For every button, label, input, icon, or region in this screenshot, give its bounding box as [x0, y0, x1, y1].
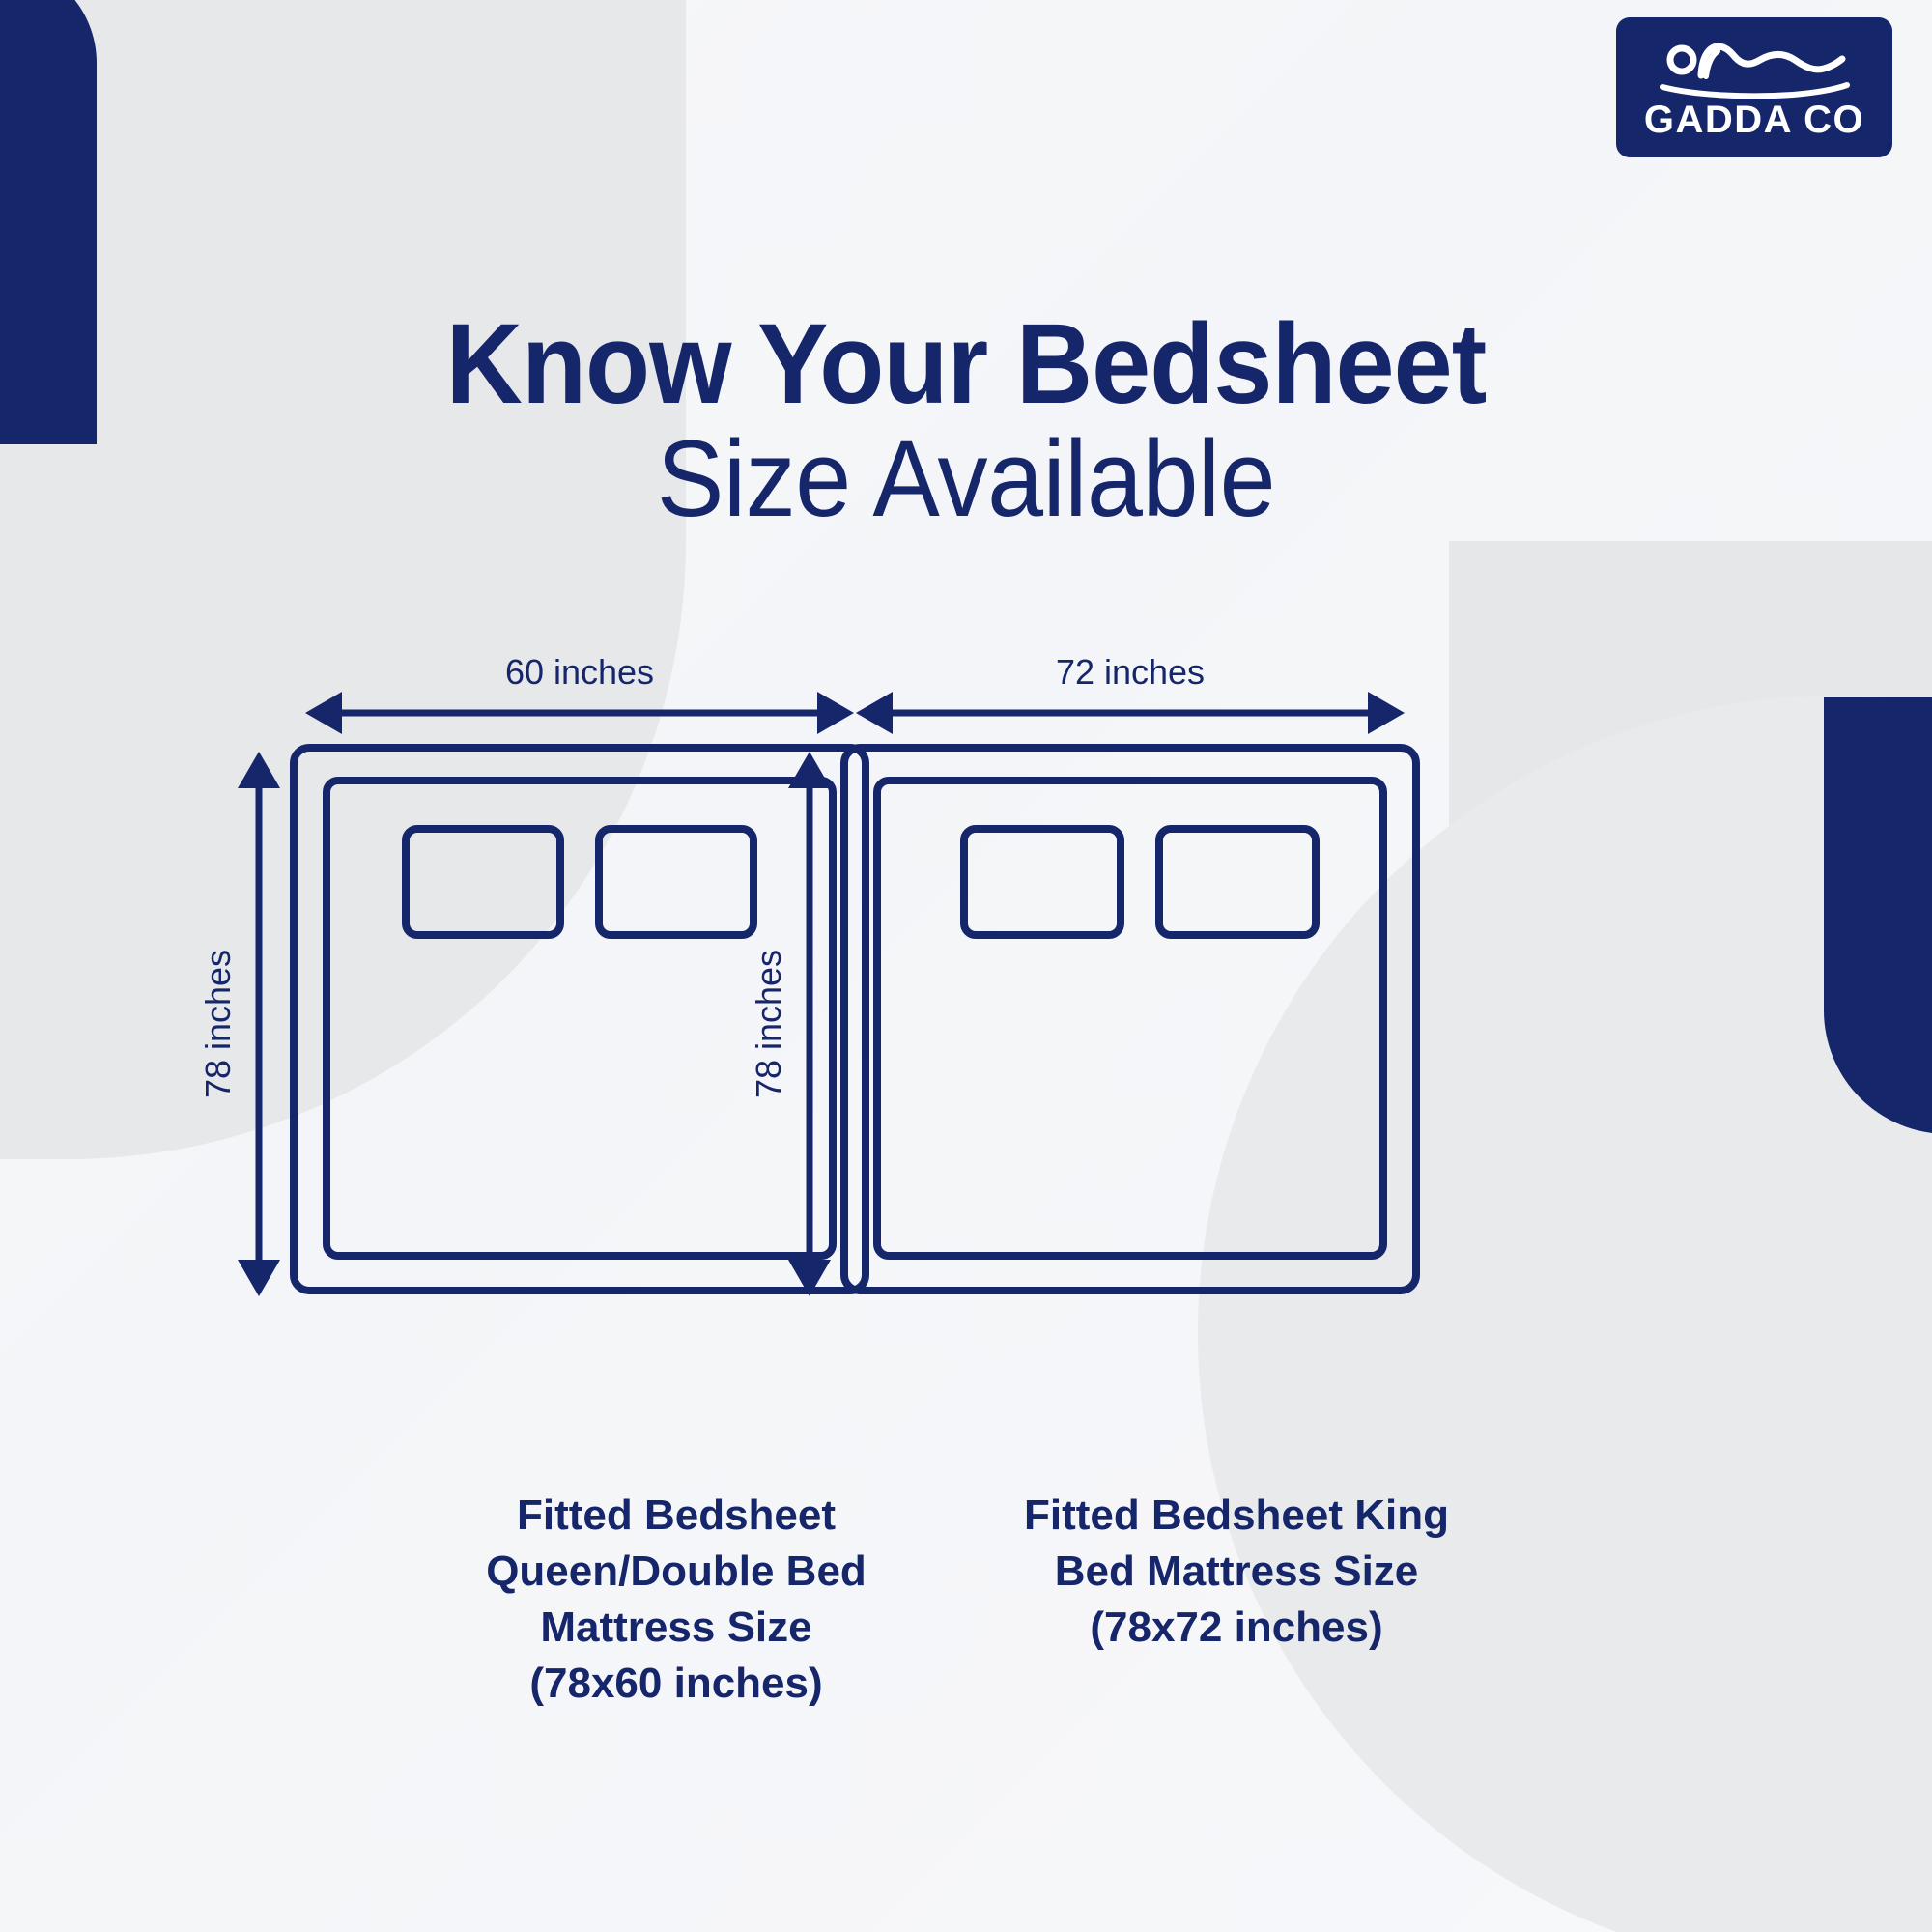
reclining-person-on-mattress-icon — [1658, 37, 1851, 99]
page-title: Know Your Bedsheet Size Available — [0, 307, 1932, 538]
height-dimension-arrow-queen — [238, 752, 280, 1296]
pillow-left-queen — [406, 829, 560, 935]
brand-logo-text: GADDA CO — [1644, 100, 1864, 139]
navy-accent-shape-right — [1824, 697, 1932, 1134]
width-dimension-label-king: 72 inches — [1056, 652, 1205, 692]
page-title-line2: Size Available — [68, 421, 1864, 538]
height-dimension-label-king: 78 inches — [749, 950, 788, 1098]
brand-logo: GADDA CO — [1616, 17, 1892, 157]
width-dimension-label-queen: 60 inches — [505, 652, 654, 692]
width-dimension-arrow-queen — [305, 692, 854, 734]
pillow-right-queen — [599, 829, 753, 935]
bedsheet-inner-outline-king — [877, 781, 1383, 1256]
pillow-right-king — [1159, 829, 1316, 935]
bed-diagram-king: 72 inches 78 inches — [840, 667, 1420, 1323]
grey-block-shape-right — [1449, 541, 1932, 1198]
width-dimension-arrow-king — [856, 692, 1405, 734]
height-dimension-label-queen: 78 inches — [198, 950, 238, 1098]
caption-king: Fitted Bedsheet King Bed Mattress Size (… — [811, 1488, 1662, 1656]
bed-diagram-king-svg: 72 inches 78 inches — [840, 667, 1420, 1323]
mattress-outer-outline-king — [844, 748, 1416, 1291]
pillow-left-king — [964, 829, 1121, 935]
infographic-canvas: GADDA CO Know Your Bedsheet Size Availab… — [0, 0, 1932, 1932]
page-title-line1: Know Your Bedsheet — [68, 307, 1864, 421]
